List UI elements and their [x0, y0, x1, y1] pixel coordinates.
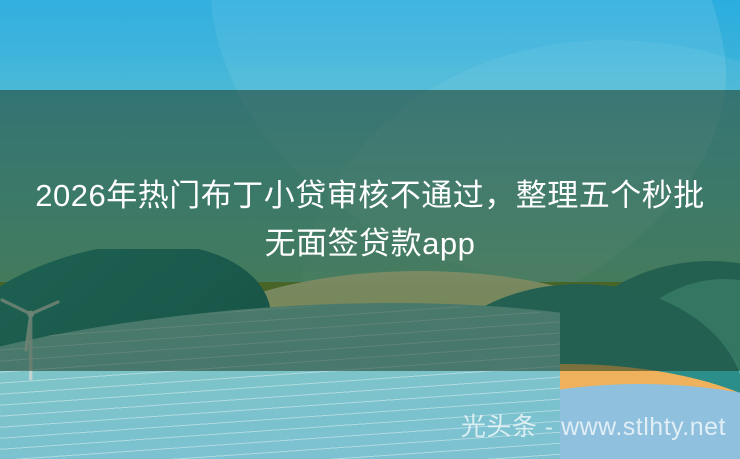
page-title: 2026年热门布丁小贷审核不通过，整理五个秒批无面签贷款app: [0, 172, 740, 268]
site-watermark: 光头条 - www.stlhty.net: [461, 407, 726, 443]
wind-turbine-icon: [0, 288, 78, 383]
eco-article-banner: 2026年热门布丁小贷审核不通过，整理五个秒批无面签贷款app 光头条 - ww…: [0, 0, 740, 459]
